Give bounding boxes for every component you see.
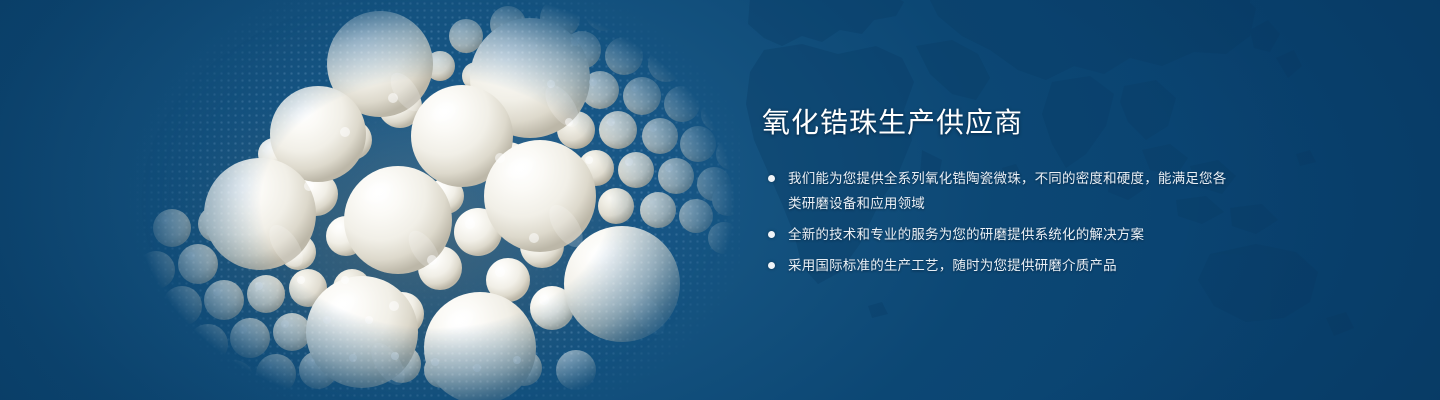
banner-bullet-text: 采用国际标准的生产工艺，随时为您提供研磨介质产品	[788, 253, 1232, 278]
banner-copy: 氧化锆珠生产供应商 我们能为您提供全系列氧化锆陶瓷微珠，不同的密度和硬度，能满足…	[762, 104, 1232, 278]
banner-bullet-list: 我们能为您提供全系列氧化锆陶瓷微珠，不同的密度和硬度，能满足您各类研磨设备和应用…	[762, 166, 1232, 278]
banner-bullet-item: 我们能为您提供全系列氧化锆陶瓷微珠，不同的密度和硬度，能满足您各类研磨设备和应用…	[762, 166, 1232, 216]
banner-bullet-text: 全新的技术和专业的服务为您的研磨提供系统化的解决方案	[788, 222, 1232, 247]
banner-bullet-item: 全新的技术和专业的服务为您的研磨提供系统化的解决方案	[762, 222, 1232, 247]
banner-bullet-text: 我们能为您提供全系列氧化锆陶瓷微珠，不同的密度和硬度，能满足您各类研磨设备和应用…	[788, 166, 1232, 216]
zirconia-beads-photo	[110, 0, 760, 400]
bullet-dot-icon	[768, 231, 775, 238]
bullet-dot-icon	[768, 262, 775, 269]
banner-bullet-item: 采用国际标准的生产工艺，随时为您提供研磨介质产品	[762, 253, 1232, 278]
hero-banner: 氧化锆珠生产供应商 我们能为您提供全系列氧化锆陶瓷微珠，不同的密度和硬度，能满足…	[0, 0, 1440, 400]
banner-headline: 氧化锆珠生产供应商	[762, 104, 1232, 142]
bullet-dot-icon	[768, 175, 775, 182]
